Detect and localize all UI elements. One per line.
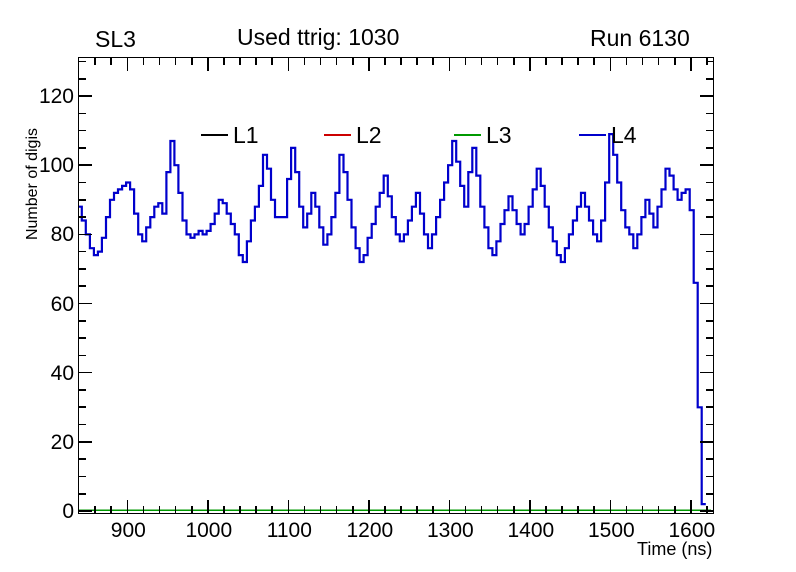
y-tick-label: 40 <box>51 362 74 386</box>
legend-label: L3 <box>486 124 512 147</box>
axis-tick <box>706 506 708 513</box>
y-axis-title: Number of digis <box>24 104 42 264</box>
plot-canvas: SL3 Used ttrig: 1030 Run 6130 Number of … <box>0 0 796 572</box>
axis-tick <box>706 320 713 322</box>
axis-tick <box>610 500 612 513</box>
axis-tick <box>159 506 161 513</box>
axis-tick <box>368 58 370 71</box>
axis-tick <box>159 58 161 65</box>
axis-tick <box>288 500 290 513</box>
axis-tick <box>706 251 713 253</box>
axis-tick <box>674 58 676 65</box>
axis-tick <box>352 506 354 513</box>
series-line-l4 <box>79 134 706 504</box>
axis-tick <box>706 424 713 426</box>
x-tick-label: 1500 <box>588 519 635 543</box>
axis-tick <box>513 58 515 65</box>
y-tick-label: 20 <box>51 431 74 455</box>
axis-tick <box>304 506 306 513</box>
axis-tick <box>674 506 676 513</box>
axis-tick <box>626 506 628 513</box>
axis-tick <box>706 355 713 357</box>
axis-tick <box>79 355 86 357</box>
axis-tick <box>79 216 86 218</box>
axis-tick <box>255 58 257 65</box>
axis-tick <box>79 389 86 391</box>
run-number-label: Run 6130 <box>590 25 690 52</box>
legend-label: L4 <box>611 124 637 147</box>
axis-tick <box>127 58 129 71</box>
axis-tick <box>79 113 86 115</box>
axis-tick <box>79 424 86 426</box>
axis-tick <box>465 58 467 65</box>
axis-tick <box>513 506 515 513</box>
axis-tick <box>432 58 434 65</box>
axis-tick <box>384 58 386 65</box>
axis-tick <box>706 458 713 460</box>
axis-tick <box>577 58 579 65</box>
x-tick-label: 1200 <box>346 519 393 543</box>
x-axis-title: Time (ns) <box>637 539 712 560</box>
axis-tick <box>658 506 660 513</box>
axis-tick <box>706 406 713 408</box>
axis-tick <box>79 147 86 149</box>
axis-tick <box>79 406 86 408</box>
axis-tick <box>449 58 451 71</box>
axis-tick <box>79 337 86 339</box>
axis-tick <box>432 506 434 513</box>
axis-tick <box>143 506 145 513</box>
axis-tick <box>79 510 92 512</box>
superlayer-label: SL3 <box>95 26 136 53</box>
axis-tick <box>481 506 483 513</box>
axis-tick <box>593 58 595 65</box>
axis-tick <box>465 506 467 513</box>
axis-tick <box>239 58 241 65</box>
axis-tick <box>700 372 713 374</box>
axis-tick <box>191 58 193 65</box>
axis-tick <box>690 500 692 513</box>
axis-tick <box>706 182 713 184</box>
y-tick-label: 120 <box>39 85 74 109</box>
legend-swatch-l4-icon <box>579 134 606 137</box>
axis-tick <box>481 58 483 65</box>
legend-swatch-l1-icon <box>201 134 228 137</box>
axis-tick <box>416 506 418 513</box>
axis-tick <box>79 493 86 495</box>
axis-tick <box>706 493 713 495</box>
axis-tick <box>706 113 713 115</box>
y-tick-label: 100 <box>39 154 74 178</box>
axis-tick <box>304 58 306 65</box>
legend: L1L2L3L4 <box>159 117 791 153</box>
axis-tick <box>175 58 177 65</box>
plot-frame: L1L2L3L4 <box>78 57 714 514</box>
axis-tick <box>79 164 92 166</box>
axis-tick <box>384 506 386 513</box>
axis-tick <box>497 58 499 65</box>
axis-tick <box>143 58 145 65</box>
axis-tick <box>352 58 354 65</box>
legend-entry-l4[interactable]: L4 <box>579 117 637 153</box>
y-tick-label: 80 <box>51 223 74 247</box>
axis-tick <box>529 500 531 513</box>
axis-tick <box>79 199 86 201</box>
axis-tick <box>207 58 209 71</box>
y-tick-label: 60 <box>51 293 74 317</box>
axis-tick <box>400 58 402 65</box>
axis-tick <box>368 500 370 513</box>
axis-tick <box>690 58 692 71</box>
axis-tick <box>545 506 547 513</box>
axis-tick <box>706 199 713 201</box>
axis-tick <box>706 58 708 65</box>
axis-tick <box>577 506 579 513</box>
axis-tick <box>79 320 86 322</box>
axis-tick <box>110 58 112 65</box>
axis-tick <box>288 58 290 71</box>
axis-tick <box>79 130 86 132</box>
axis-tick <box>706 476 713 478</box>
axis-tick <box>700 441 713 443</box>
axis-tick <box>79 441 92 443</box>
axis-tick <box>79 458 86 460</box>
x-tick-label: 900 <box>111 519 146 543</box>
axis-tick <box>706 268 713 270</box>
axis-tick <box>706 216 713 218</box>
axis-tick <box>79 285 86 287</box>
x-tick-label: 1100 <box>267 519 312 543</box>
axis-tick <box>593 506 595 513</box>
legend-entry-l3[interactable]: L3 <box>454 117 512 153</box>
axis-tick <box>700 95 713 97</box>
axis-tick <box>191 506 193 513</box>
axis-tick <box>79 182 86 184</box>
axis-tick <box>79 251 86 253</box>
axis-tick <box>497 506 499 513</box>
axis-tick <box>700 234 713 236</box>
axis-tick <box>336 58 338 65</box>
axis-tick <box>610 58 612 71</box>
legend-swatch-l3-icon <box>454 134 481 137</box>
axis-tick <box>545 58 547 65</box>
axis-tick <box>207 500 209 513</box>
axis-tick <box>255 506 257 513</box>
x-tick-label: 1400 <box>507 519 554 543</box>
axis-tick <box>110 506 112 513</box>
axis-tick <box>79 303 92 305</box>
axis-tick <box>416 58 418 65</box>
axis-tick <box>79 476 86 478</box>
axis-tick <box>94 58 96 65</box>
axis-tick <box>79 234 92 236</box>
x-tick-label: 1000 <box>185 519 232 543</box>
axis-tick <box>79 61 86 63</box>
ttrig-title: Used ttrig: 1030 <box>237 24 399 51</box>
axis-tick <box>561 58 563 65</box>
axis-tick <box>706 389 713 391</box>
axis-tick <box>223 58 225 65</box>
axis-tick <box>271 58 273 65</box>
axis-tick <box>706 285 713 287</box>
axis-tick <box>320 58 322 65</box>
axis-tick <box>94 506 96 513</box>
axis-tick <box>271 506 273 513</box>
legend-label: L2 <box>356 124 382 147</box>
x-tick-label: 1300 <box>427 519 474 543</box>
axis-tick <box>400 506 402 513</box>
axis-tick <box>175 506 177 513</box>
axis-tick <box>79 268 86 270</box>
axis-tick <box>79 95 92 97</box>
axis-tick <box>336 506 338 513</box>
axis-tick <box>642 58 644 65</box>
axis-tick <box>706 78 713 80</box>
axis-tick <box>223 506 225 513</box>
axis-tick <box>561 506 563 513</box>
axis-tick <box>239 506 241 513</box>
axis-tick <box>529 58 531 71</box>
axis-tick <box>127 500 129 513</box>
legend-label: L1 <box>233 124 259 147</box>
axis-tick <box>700 303 713 305</box>
legend-entry-l2[interactable]: L2 <box>324 117 382 153</box>
y-tick-label: 0 <box>62 500 74 524</box>
axis-tick <box>79 78 86 80</box>
legend-swatch-l2-icon <box>324 134 351 137</box>
axis-tick <box>658 58 660 65</box>
legend-entry-l1[interactable]: L1 <box>201 117 259 153</box>
axis-tick <box>700 164 713 166</box>
axis-tick <box>79 372 92 374</box>
axis-tick <box>706 337 713 339</box>
axis-tick <box>642 506 644 513</box>
axis-tick <box>320 506 322 513</box>
axis-tick <box>449 500 451 513</box>
axis-tick <box>626 58 628 65</box>
